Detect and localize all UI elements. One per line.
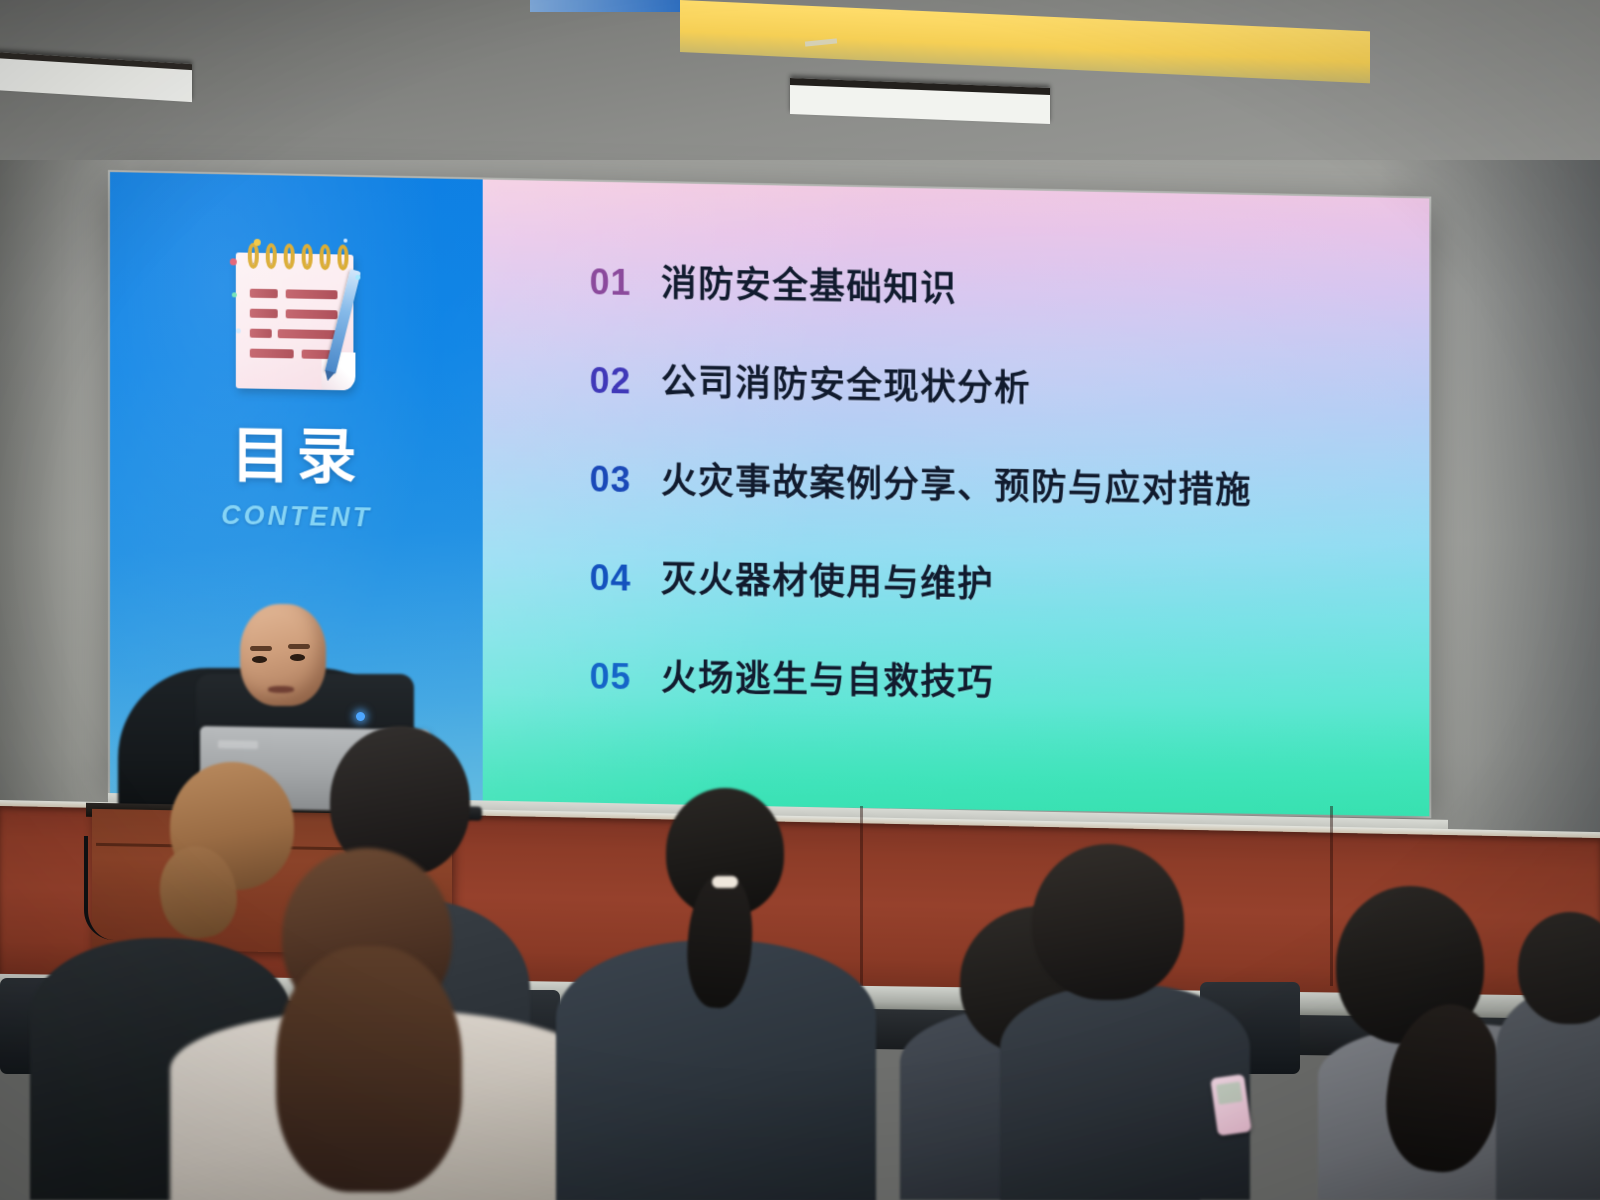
slide-sidebar-title: 目录 bbox=[231, 426, 363, 488]
toc-number-05: 05 bbox=[590, 656, 661, 699]
presenter-brow bbox=[250, 646, 272, 651]
toc-label-04: 灭火器材使用与维护 bbox=[661, 550, 994, 607]
toc-number-03: 03 bbox=[590, 458, 661, 501]
attendee-6-head bbox=[1032, 844, 1184, 1000]
toc-label-05: 火场逃生与自救技巧 bbox=[661, 649, 994, 706]
notepad-icon bbox=[222, 230, 371, 403]
attendee-3-ponytail bbox=[276, 946, 462, 1192]
presenter-eye bbox=[290, 654, 305, 661]
toc-item-01: 01 消防安全基础知识 bbox=[590, 253, 1430, 321]
toc-item-03: 03 火灾事故案例分享、预防与应对措施 bbox=[590, 451, 1430, 517]
toc-number-01: 01 bbox=[590, 261, 661, 304]
power-cable bbox=[84, 836, 114, 940]
presenter-eye bbox=[252, 656, 267, 663]
wood-seam bbox=[860, 806, 863, 986]
presenter-brow bbox=[288, 644, 310, 649]
attendee-4-hair-tie bbox=[712, 876, 738, 888]
slide-content-panel: 01 消防安全基础知识 02 公司消防安全现状分析 03 火灾事故案例分享、预防… bbox=[482, 179, 1429, 816]
toc-number-02: 02 bbox=[590, 360, 661, 403]
conference-room-photo: 目录 CONTENT 01 消防安全基础知识 02 公司消防安全现状分析 03 … bbox=[0, 0, 1600, 1200]
toc-label-03: 火灾事故案例分享、预防与应对措施 bbox=[661, 452, 1252, 514]
presenter-badge-light bbox=[356, 712, 365, 721]
toc-label-01: 消防安全基础知识 bbox=[661, 255, 957, 312]
toc-number-04: 04 bbox=[590, 557, 661, 600]
presenter-mouth bbox=[268, 686, 294, 693]
toc-label-02: 公司消防安全现状分析 bbox=[661, 353, 1031, 411]
wood-seam bbox=[1330, 806, 1333, 986]
toc-item-05: 05 火场逃生与自救技巧 bbox=[590, 648, 1430, 713]
toc-item-04: 04 灭火器材使用与维护 bbox=[590, 549, 1430, 615]
ceiling-blue-strip bbox=[530, 0, 680, 12]
slide-sidebar-subtitle: CONTENT bbox=[221, 500, 372, 534]
toc-item-02: 02 公司消防安全现状分析 bbox=[590, 352, 1430, 419]
